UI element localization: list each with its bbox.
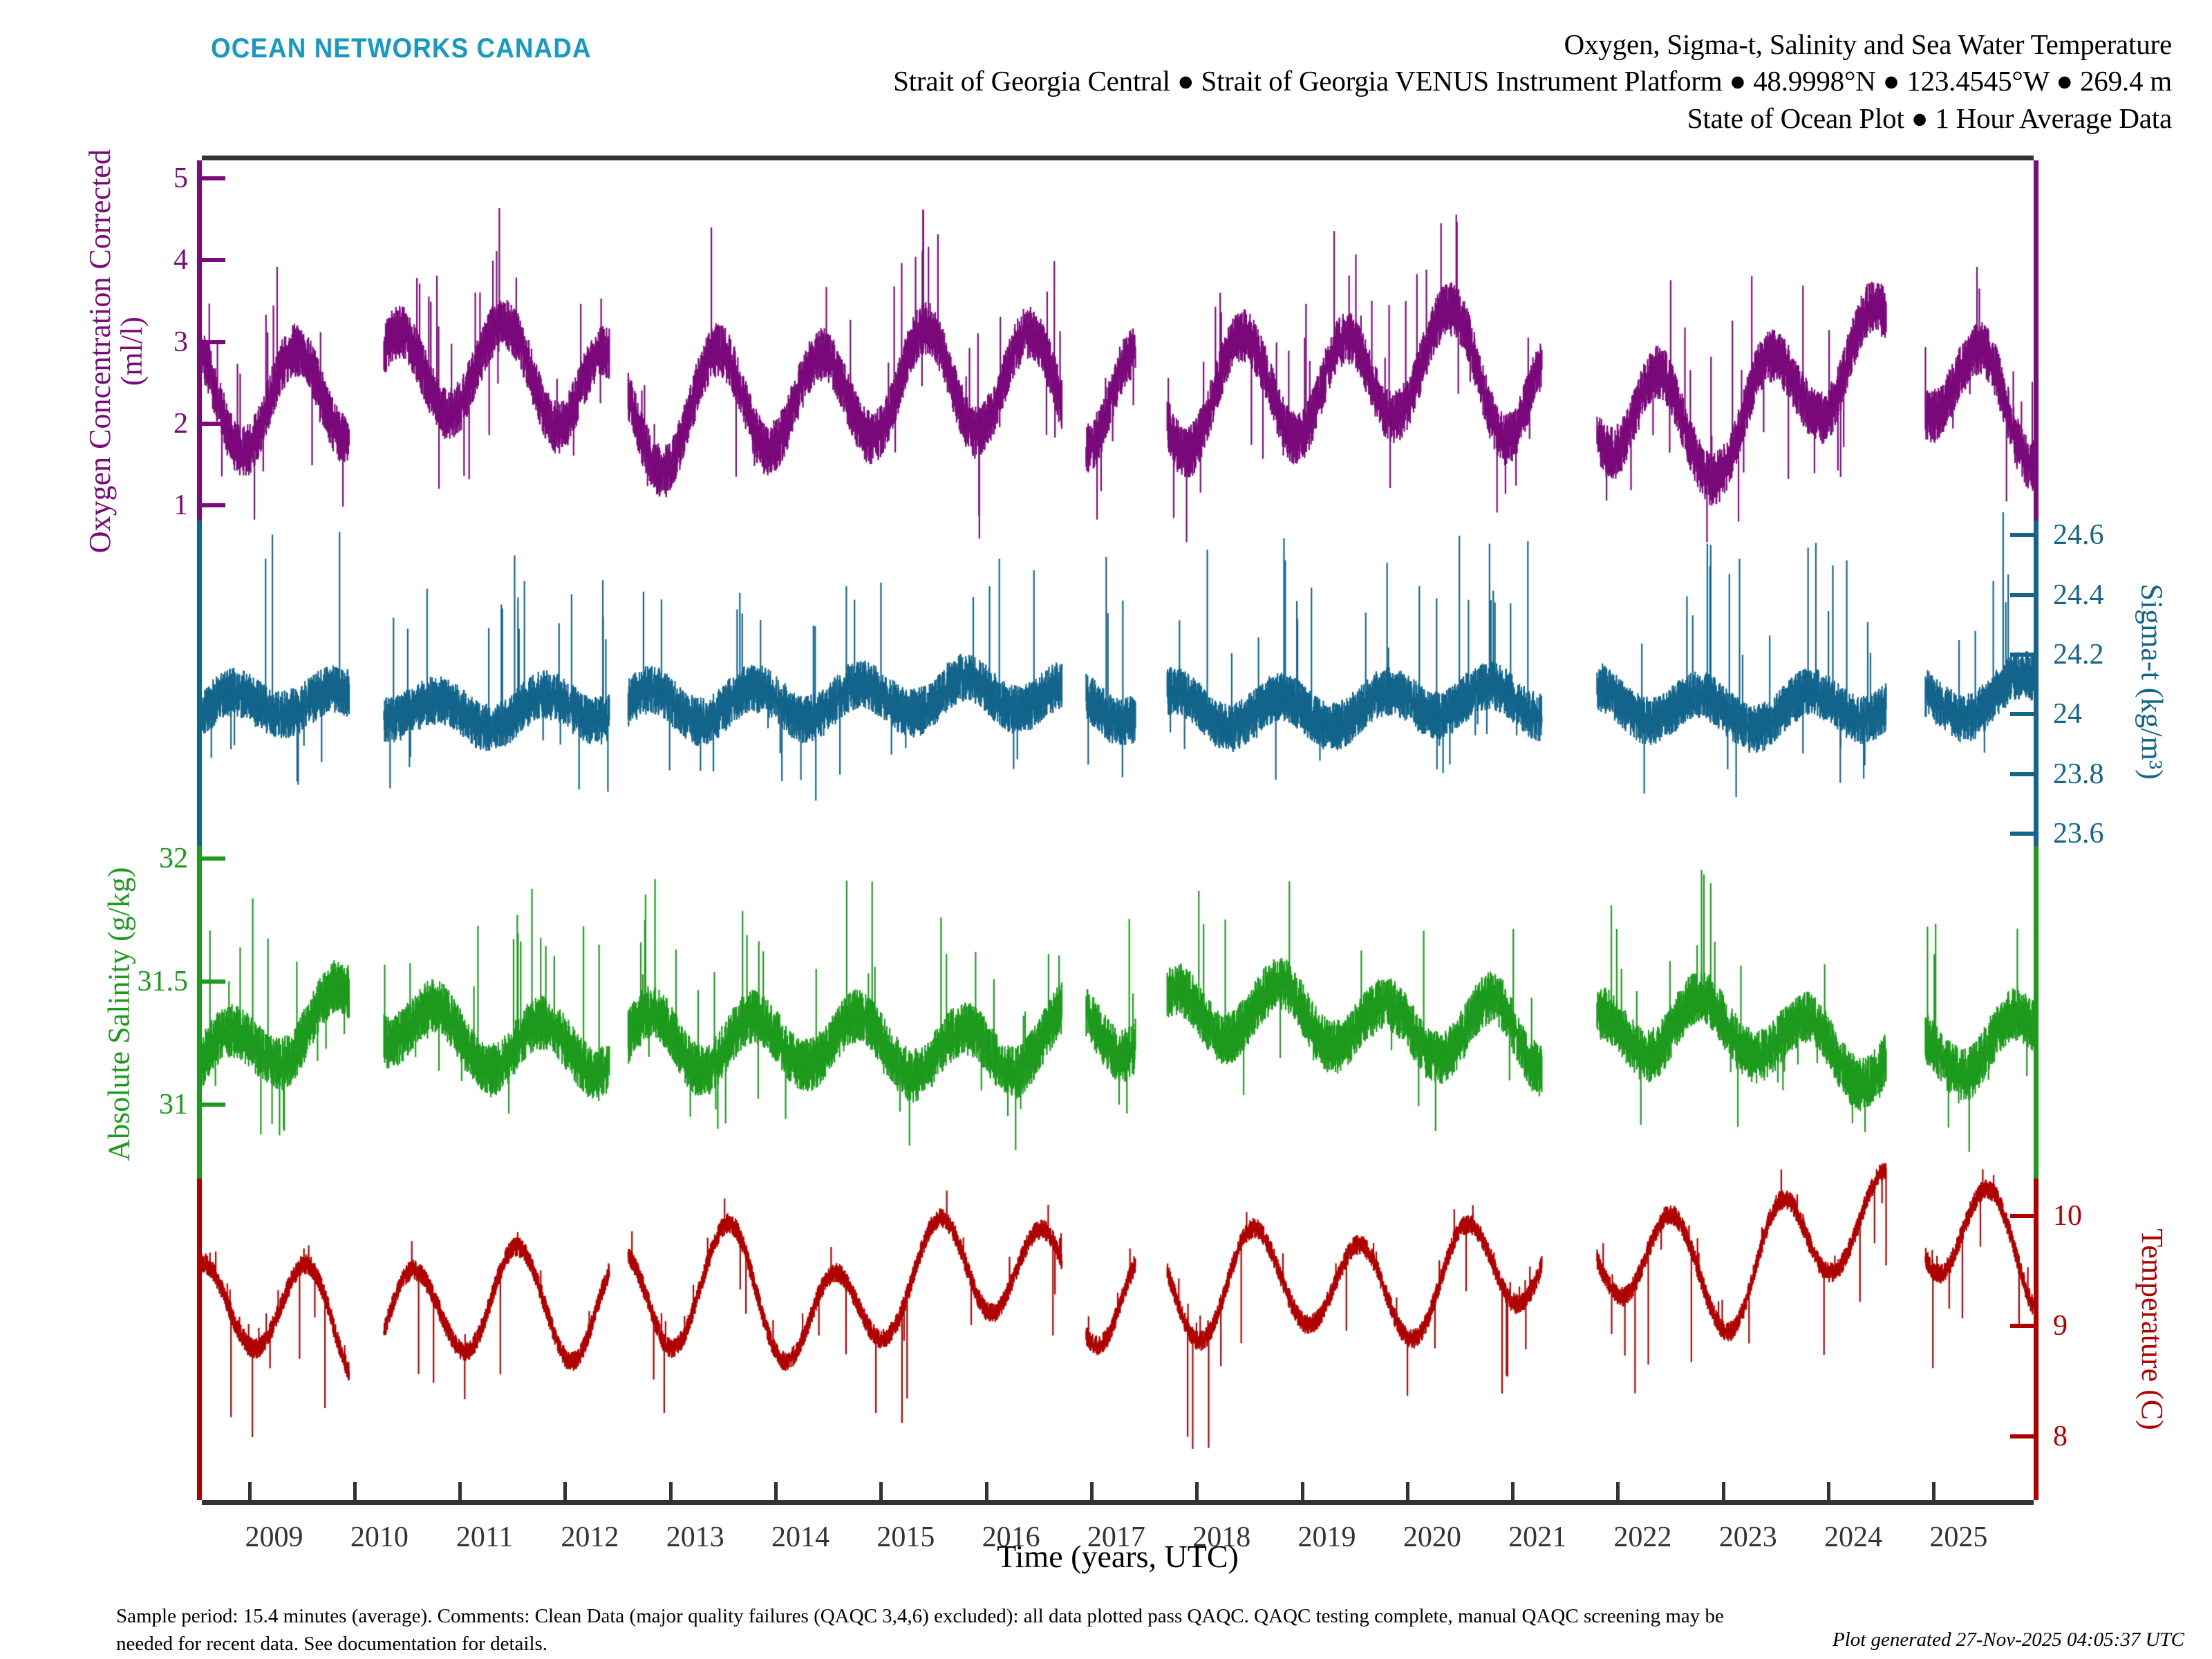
axis-spine-top — [202, 156, 2034, 160]
y-axis-title-temperature: Temperature (C) — [2135, 1228, 2167, 1430]
y-tick-oxygen-0 — [202, 176, 225, 180]
x-tick-2012 — [563, 1482, 567, 1500]
y-tick-sigma_t-0 — [2010, 533, 2034, 537]
y-tick-temperature-1 — [2010, 1324, 2034, 1328]
y-axis-title-oxygen: Oxygen Concentration Corrected(ml/l) — [84, 149, 148, 553]
generated-timestamp: Plot generated 27-Nov-2025 04:05:37 UTC — [1833, 1629, 2184, 1651]
x-tick-2025 — [1932, 1482, 1935, 1500]
spine-segment-oxygen-right — [2034, 160, 2038, 521]
y-tick-sigma_t-3 — [2010, 712, 2034, 716]
spine-segment-salinity-right — [2034, 846, 2038, 1179]
y-tick-label-temperature-1: 9 — [2053, 1311, 2212, 1340]
y-tick-sigma_t-5 — [2010, 832, 2034, 836]
x-tick-2009 — [248, 1482, 252, 1500]
y-tick-label-sigma_t-2: 24.2 — [2053, 640, 2212, 669]
y-axis-title-salinity: Absolute Salinity (g/kg) — [103, 867, 135, 1161]
x-tick-2013 — [669, 1482, 673, 1500]
ocean-networks-canada-logo: OCEAN NETWORKS CANADA — [211, 33, 592, 64]
y-tick-sigma_t-2 — [2010, 653, 2034, 657]
x-tick-2018 — [1195, 1482, 1199, 1500]
spine-segment-oxygen-left — [197, 160, 202, 521]
y-tick-temperature-0 — [2010, 1214, 2034, 1218]
x-tick-2022 — [1616, 1482, 1620, 1500]
x-tick-2020 — [1406, 1482, 1409, 1500]
timeseries-canvas — [202, 160, 2034, 1500]
y-tick-label-temperature-0: 10 — [2053, 1201, 2212, 1230]
y-tick-temperature-2 — [2010, 1434, 2034, 1438]
x-axis-title: Time (years, UTC) — [202, 1538, 2034, 1575]
x-tick-2019 — [1301, 1482, 1304, 1500]
y-tick-salinity-1 — [202, 980, 225, 984]
chart-title-line1: Oxygen, Sigma-t, Salinity and Sea Water … — [893, 26, 2172, 63]
y-tick-sigma_t-1 — [2010, 593, 2034, 597]
footnote-text: Sample period: 15.4 minutes (average). C… — [116, 1602, 1768, 1658]
y-tick-sigma_t-4 — [2010, 772, 2034, 776]
y-tick-label-sigma_t-4: 23.8 — [2053, 760, 2212, 789]
y-tick-label-temperature-2: 8 — [2053, 1422, 2212, 1451]
x-tick-2016 — [985, 1482, 988, 1500]
x-tick-2017 — [1090, 1482, 1094, 1500]
x-tick-2015 — [879, 1482, 883, 1500]
plot-area — [202, 160, 2034, 1500]
y-tick-oxygen-3 — [202, 422, 225, 426]
y-tick-salinity-2 — [202, 1103, 225, 1107]
chart-title-line3: State of Ocean Plot ● 1 Hour Average Dat… — [893, 100, 2172, 137]
x-tick-2010 — [353, 1482, 357, 1500]
x-tick-2021 — [1511, 1482, 1515, 1500]
y-tick-oxygen-1 — [202, 258, 225, 262]
spine-segment-sigma_t-right — [2034, 521, 2038, 846]
chart-title-line2: Strait of Georgia Central ● Strait of Ge… — [893, 63, 2172, 100]
y-tick-label-sigma_t-0: 24.6 — [2053, 521, 2212, 550]
spine-segment-sigma_t-left — [197, 521, 202, 846]
axis-spine-bottom — [202, 1500, 2034, 1505]
y-tick-label-sigma_t-5: 23.6 — [2053, 819, 2212, 848]
x-tick-2014 — [774, 1482, 778, 1500]
y-tick-oxygen-2 — [202, 340, 225, 344]
y-tick-salinity-0 — [202, 856, 225, 861]
y-tick-label-sigma_t-3: 24 — [2053, 700, 2212, 729]
spine-segment-salinity-left — [197, 846, 202, 1179]
x-tick-2024 — [1827, 1482, 1830, 1500]
y-axis-title-sigma_t: Sigma-t (kg/m³) — [2135, 583, 2167, 779]
y-tick-label-sigma_t-1: 24.4 — [2053, 581, 2212, 610]
y-tick-oxygen-4 — [202, 503, 225, 507]
x-tick-2023 — [1722, 1482, 1725, 1500]
chart-title-block: Oxygen, Sigma-t, Salinity and Sea Water … — [893, 26, 2172, 137]
x-tick-2011 — [458, 1482, 462, 1500]
spine-segment-temperature-right — [2034, 1179, 2038, 1500]
spine-segment-temperature-left — [197, 1179, 202, 1500]
